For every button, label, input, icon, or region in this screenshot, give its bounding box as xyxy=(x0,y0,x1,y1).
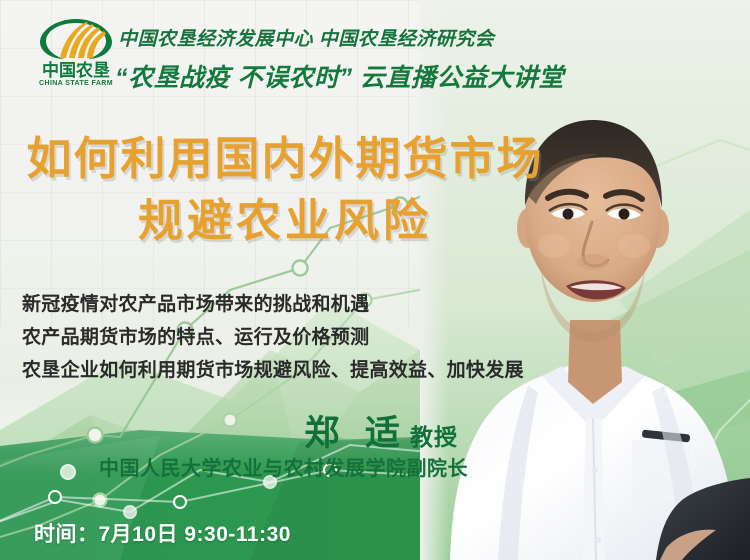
list-item: 农产品期货市场的特点、运行及价格预测 xyxy=(22,321,542,354)
speaker-honorific-text: 教授 xyxy=(410,424,458,450)
logo-en-text: CHINA STATE FARM xyxy=(30,80,122,87)
organizations-text: 中国农垦经济发展中心 中国农垦经济研究会 xyxy=(118,24,494,51)
logo-cn-text: 中国农垦 xyxy=(30,62,122,80)
speaker-name-text: 郑 适 xyxy=(304,414,408,453)
china-state-farm-logo-icon: 中国农垦 CHINA STATE FARM xyxy=(30,16,122,92)
speaker-affiliation: 中国人民大学农业与农村发展学院副院长 xyxy=(0,452,468,481)
list-item: 农垦企业如何利用期货市场规避风险、提高效益、加快发展 xyxy=(22,354,542,387)
event-time: 时间：7月10日 9:30-11:30 xyxy=(34,518,291,548)
webinar-poster: 中国农垦 CHINA STATE FARM 中国农垦经济发展中心 中国农垦经济研… xyxy=(0,0,750,560)
title-line-2: 规避农业风险 xyxy=(0,190,570,252)
program-name-text: “农垦战疫 不误农时” 云直播公益大讲堂 xyxy=(115,58,564,94)
topic-list: 新冠疫情对农产品市场带来的挑战和机遇 农产品期货市场的特点、运行及价格预测 农垦… xyxy=(22,288,542,387)
title-line-1: 如何利用国内外期货市场 xyxy=(0,128,570,190)
speaker-name: 郑 适教授 xyxy=(0,405,458,456)
list-item: 新冠疫情对农产品市场带来的挑战和机遇 xyxy=(22,288,542,321)
header: 中国农垦 CHINA STATE FARM 中国农垦经济发展中心 中国农垦经济研… xyxy=(0,0,750,98)
page-title: 如何利用国内外期货市场 规避农业风险 xyxy=(0,128,570,252)
